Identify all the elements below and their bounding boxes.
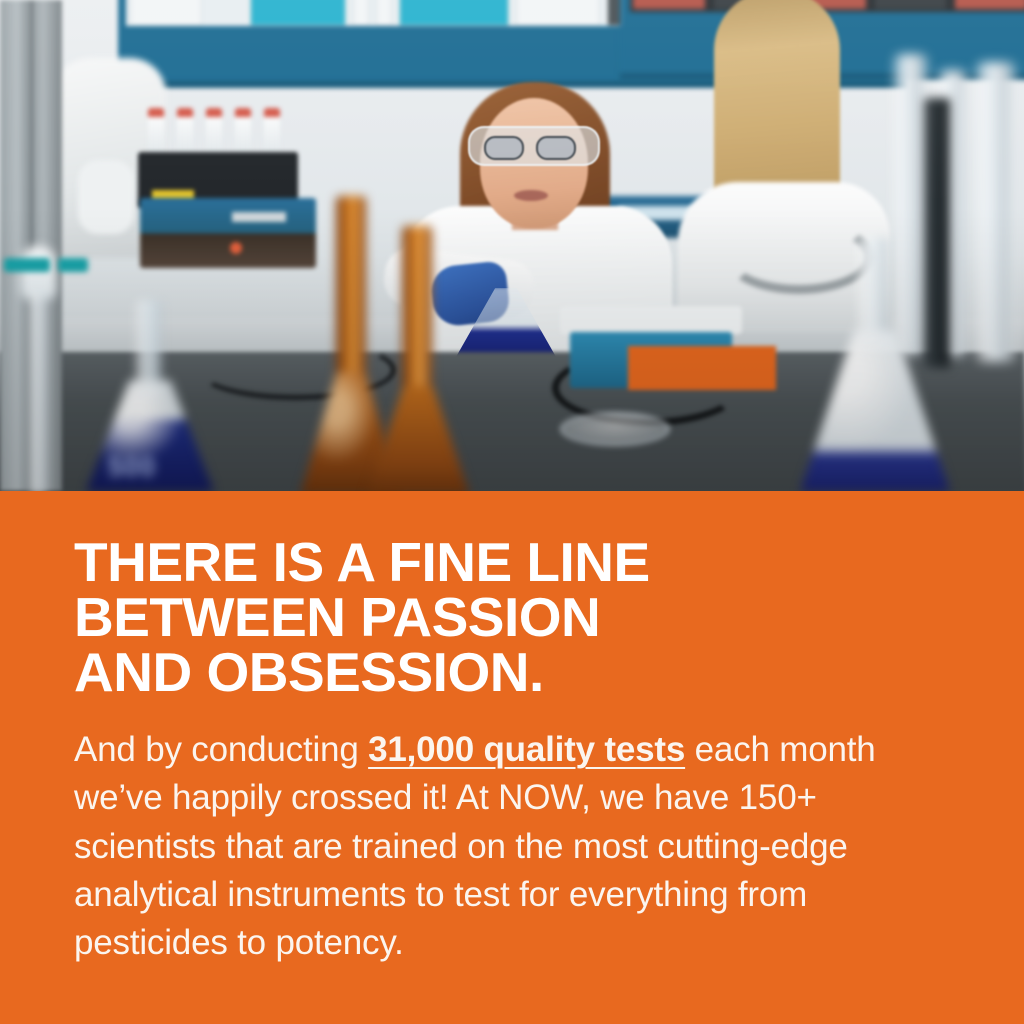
shelf-box <box>376 0 392 26</box>
laboratory-scientists-photo: 500 <box>0 0 1024 491</box>
body-copy: And by conducting 31,000 quality tests e… <box>74 726 934 967</box>
shelf-box <box>955 0 1024 9</box>
social-media-poster: 500 THERE IS A FINE LINE BETWEEN PASSION… <box>0 0 1024 1024</box>
test-tube <box>148 108 164 156</box>
shelf-box <box>353 0 369 26</box>
teal-pipette-cap <box>4 258 50 272</box>
petri-dish <box>560 412 670 446</box>
amber-flask-foreground-b <box>378 226 456 491</box>
shelf-box <box>516 0 600 26</box>
shelf-box <box>399 0 509 26</box>
volumetric-flask-foreground-right <box>800 238 950 491</box>
test-tube <box>264 108 280 156</box>
test-tube-rack-tubes <box>148 108 288 156</box>
headline: THERE IS A FINE LINE BETWEEN PASSION AND… <box>74 535 950 700</box>
teal-pipette-cap <box>58 258 88 272</box>
shelf-box <box>130 0 202 26</box>
scientist-left-arm <box>78 160 134 234</box>
orange-message-panel: THERE IS A FINE LINE BETWEEN PASSION AND… <box>0 491 1024 1024</box>
flask-volume-label: 500 <box>108 452 182 478</box>
test-tube <box>235 108 251 156</box>
shelf-box <box>250 0 346 26</box>
amber-flask-foreground-a <box>316 196 386 491</box>
volumetric-flask-500ml: 500 <box>86 300 214 490</box>
scientist-mouth <box>514 190 548 201</box>
glass-column-c <box>976 62 1016 362</box>
body-copy-part-one: And by conducting <box>74 730 368 769</box>
quality-tests-highlight: 31,000 quality tests <box>368 730 685 769</box>
bench-analyzer-instrument <box>140 198 316 268</box>
test-tube <box>177 108 193 156</box>
lab-balance-instrument <box>560 306 742 394</box>
test-tube <box>206 108 222 156</box>
safety-goggles-icon <box>468 126 600 166</box>
pipette-foreground-left <box>18 246 58 490</box>
